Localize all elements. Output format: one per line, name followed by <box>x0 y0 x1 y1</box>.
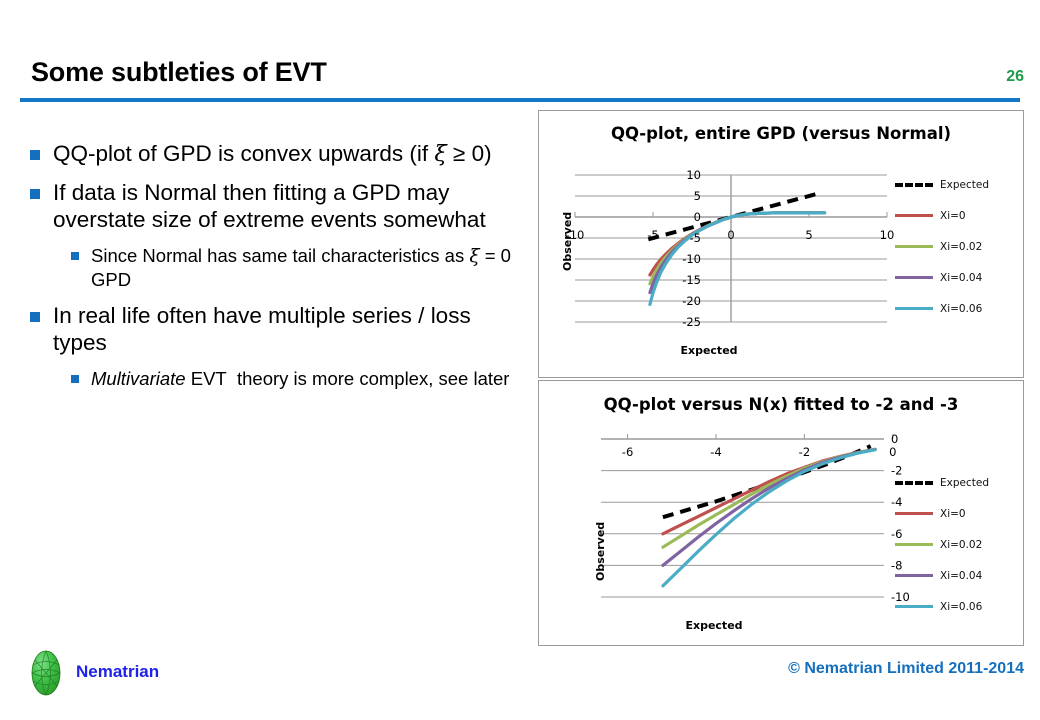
list-item-label: Multivariate EVT theory is more complex,… <box>91 367 530 390</box>
list-item-label: In real life often have multiple series … <box>53 302 530 356</box>
svg-text:-2: -2 <box>799 445 810 459</box>
bullet-square-icon <box>30 189 40 199</box>
legend-item: Xi=0.02 <box>895 231 989 262</box>
legend-label: Expected <box>940 477 989 489</box>
svg-text:0: 0 <box>889 445 896 459</box>
legend-label: Expected <box>940 179 989 191</box>
legend-item: Expected <box>895 467 989 498</box>
legend-swatch-icon <box>895 276 933 279</box>
legend-label: Xi=0 <box>940 508 966 520</box>
list-item: Since Normal has same tail characteristi… <box>71 244 530 291</box>
x-axis-title: Expected <box>539 344 879 357</box>
chart-panel-qq-versus-nx: QQ-plot versus N(x) fitted to -2 and -3 … <box>538 380 1024 646</box>
svg-text:0: 0 <box>694 210 701 224</box>
page-title: Some subtleties of EVT <box>31 57 327 88</box>
legend-item: Xi=0.06 <box>895 293 989 324</box>
legend-label: Xi=0.04 <box>940 272 982 284</box>
legend-label: Xi=0.02 <box>940 539 982 551</box>
list-item: If data is Normal then fitting a GPD may… <box>30 179 530 233</box>
chart-legend: ExpectedXi=0Xi=0.02Xi=0.04Xi=0.06 <box>895 169 989 324</box>
list-item: Multivariate EVT theory is more complex,… <box>71 367 530 390</box>
y-axis-title: Observed <box>594 522 607 581</box>
legend-swatch-icon <box>895 245 933 248</box>
svg-text:-10: -10 <box>682 252 701 266</box>
legend-swatch-icon <box>895 214 933 217</box>
svg-text:-25: -25 <box>682 315 701 329</box>
bullet-square-icon <box>71 252 79 260</box>
legend-item: Xi=0.04 <box>895 560 989 591</box>
legend-item: Xi=0.02 <box>895 529 989 560</box>
list-item-label: If data is Normal then fitting a GPD may… <box>53 179 530 233</box>
svg-text:0: 0 <box>891 432 898 446</box>
chart-legend: ExpectedXi=0Xi=0.02Xi=0.04Xi=0.06 <box>895 467 989 622</box>
bullet-square-icon <box>30 312 40 322</box>
header-divider <box>20 98 1020 102</box>
legend-swatch-icon <box>895 512 933 515</box>
svg-text:10: 10 <box>686 168 701 182</box>
bullet-square-icon <box>71 375 79 383</box>
nematrian-polyhedron-logo-icon <box>26 648 66 698</box>
svg-text:-5: -5 <box>647 228 658 242</box>
legend-swatch-icon <box>895 481 933 485</box>
svg-text:-4: -4 <box>710 445 721 459</box>
list-item-label: Since Normal has same tail characteristi… <box>91 244 530 291</box>
svg-text:10: 10 <box>880 228 895 242</box>
footer-brand-label: Nematrian <box>76 662 159 682</box>
legend-label: Xi=0 <box>940 210 966 222</box>
legend-label: Xi=0.04 <box>940 570 982 582</box>
legend-swatch-icon <box>895 605 933 608</box>
legend-swatch-icon <box>895 543 933 546</box>
legend-item: Xi=0 <box>895 498 989 529</box>
list-item-label: QQ-plot of GPD is convex upwards (if ξ ≥… <box>53 140 530 168</box>
legend-item: Xi=0.04 <box>895 262 989 293</box>
svg-text:0: 0 <box>727 228 734 242</box>
y-axis-title: Observed <box>561 212 574 271</box>
legend-swatch-icon <box>895 574 933 577</box>
svg-text:-6: -6 <box>622 445 633 459</box>
legend-label: Xi=0.06 <box>940 601 982 613</box>
legend-label: Xi=0.02 <box>940 241 982 253</box>
page-number: 26 <box>1006 68 1024 86</box>
svg-text:-5: -5 <box>690 231 701 245</box>
svg-text:-15: -15 <box>682 273 701 287</box>
copyright-label: © Nematrian Limited 2011-2014 <box>788 660 1024 678</box>
svg-text:5: 5 <box>694 189 701 203</box>
svg-text:-20: -20 <box>682 294 701 308</box>
chart-panel-qq-entire-gpd: QQ-plot, entire GPD (versus Normal) 1050… <box>538 110 1024 378</box>
legend-swatch-icon <box>895 183 933 187</box>
legend-item: Xi=0 <box>895 200 989 231</box>
legend-item: Xi=0.06 <box>895 591 989 622</box>
bullet-list: QQ-plot of GPD is convex upwards (if ξ ≥… <box>30 140 530 401</box>
list-item: QQ-plot of GPD is convex upwards (if ξ ≥… <box>30 140 530 168</box>
list-item: In real life often have multiple series … <box>30 302 530 356</box>
legend-item: Expected <box>895 169 989 200</box>
bullet-square-icon <box>30 150 40 160</box>
svg-text:5: 5 <box>805 228 812 242</box>
legend-swatch-icon <box>895 307 933 310</box>
legend-label: Xi=0.06 <box>940 303 982 315</box>
x-axis-title: Expected <box>539 619 889 632</box>
